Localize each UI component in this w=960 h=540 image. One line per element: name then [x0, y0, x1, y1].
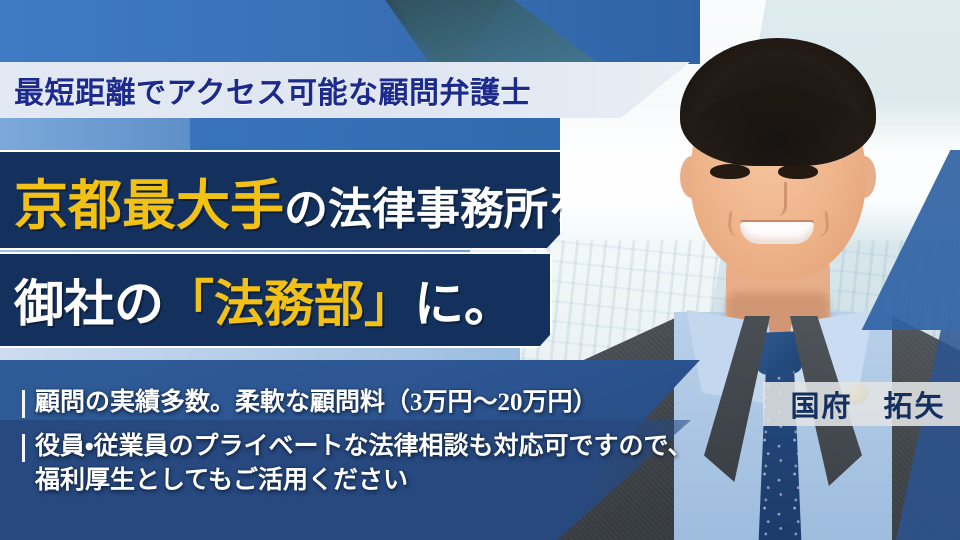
list-item: 役員・従業員のプライベートな法律相談も対応可ですので、 福利厚生としてもご活用く…	[22, 430, 712, 498]
headline-line-2: 京都最大手 の法律事務所を	[0, 150, 562, 250]
mouth	[740, 222, 814, 244]
headline-line-3-content: 御社の 「法務部」 に。	[14, 264, 514, 336]
bullet-text: 役員・従業員のプライベートな法律相談も対応可ですので、 福利厚生としてもご活用く…	[35, 430, 693, 498]
headline-line-3: 御社の 「法務部」 に。	[0, 252, 552, 348]
hair	[680, 38, 876, 166]
bullet-bar-icon	[22, 390, 25, 418]
headline-line-2-white: の法律事務所を	[284, 173, 592, 237]
eye-left	[710, 164, 750, 179]
headline-line-3-white-pre: 御社の	[14, 264, 164, 336]
headline-line-3-gold: 「法務部」	[164, 264, 414, 336]
lawyer-name-badge: 国府 拓矢	[763, 382, 960, 426]
lawyer-name: 国府 拓矢	[790, 383, 945, 425]
bullet-text: 顧問の実績多数。柔軟な顧問料（3万円〜20万円）	[35, 386, 598, 420]
list-item: 顧問の実績多数。柔軟な顧問料（3万円〜20万円）	[22, 386, 712, 420]
headline-line-2-gold: 京都最大手	[14, 161, 284, 240]
kicker-band: 最短距離でアクセス可能な顧問弁護士	[0, 62, 690, 118]
nose	[766, 182, 787, 216]
kicker-text: 最短距離でアクセス可能な顧問弁護士	[14, 68, 531, 112]
bullet-bar-icon	[22, 434, 25, 462]
ad-banner: 最短距離でアクセス可能な顧問弁護士 京都最大手 の法律事務所を 御社の 「法務部…	[0, 0, 960, 540]
eye-right	[778, 164, 818, 179]
benefit-list: 顧問の実績多数。柔軟な顧問料（3万円〜20万円） 役員・従業員のプライベートな法…	[22, 386, 712, 508]
decor-top-blue-bar	[0, 0, 700, 64]
headline-line-3-white-post: に。	[414, 264, 514, 336]
headline-line-2-content: 京都最大手 の法律事務所を	[14, 161, 592, 240]
